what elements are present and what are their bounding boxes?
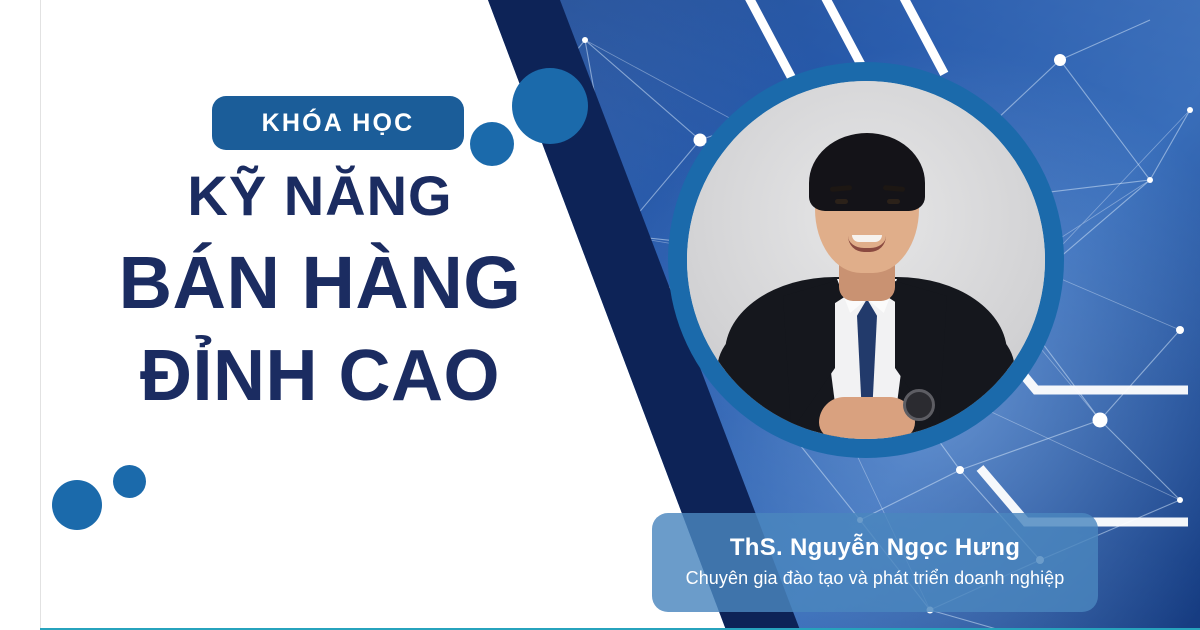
avatar bbox=[687, 81, 1045, 439]
portrait-hands bbox=[819, 397, 915, 439]
decor-dot-bottom-large bbox=[52, 480, 102, 530]
speaker-portrait-ring bbox=[668, 62, 1064, 458]
portrait-eye-right bbox=[887, 199, 900, 204]
headline-line-2: BÁN HÀNG bbox=[0, 246, 640, 320]
decor-dot-large bbox=[512, 68, 588, 144]
course-label-text: KHÓA HỌC bbox=[262, 111, 415, 136]
course-promo-banner: KHÓA HỌC KỸ NĂNG BÁN HÀNG ĐỈNH CAO bbox=[0, 0, 1200, 630]
portrait-wristwatch bbox=[903, 389, 935, 421]
portrait-eye-left bbox=[835, 199, 848, 204]
speaker-role: Chuyên gia đào tạo và phát triển doanh n… bbox=[686, 567, 1065, 590]
speaker-name: ThS. Nguyễn Ngọc Hưng bbox=[730, 534, 1020, 563]
headline-line-1: KỸ NĂNG bbox=[0, 168, 640, 224]
decor-dot-bottom-small bbox=[113, 465, 146, 498]
speaker-nameplate: ThS. Nguyễn Ngọc Hưng Chuyên gia đào tạo… bbox=[652, 513, 1098, 612]
decor-dot-small bbox=[470, 122, 514, 166]
course-label-badge: KHÓA HỌC bbox=[212, 96, 464, 150]
headline-line-3: ĐỈNH CAO bbox=[0, 340, 640, 412]
page-title: KỸ NĂNG BÁN HÀNG ĐỈNH CAO bbox=[0, 168, 640, 412]
